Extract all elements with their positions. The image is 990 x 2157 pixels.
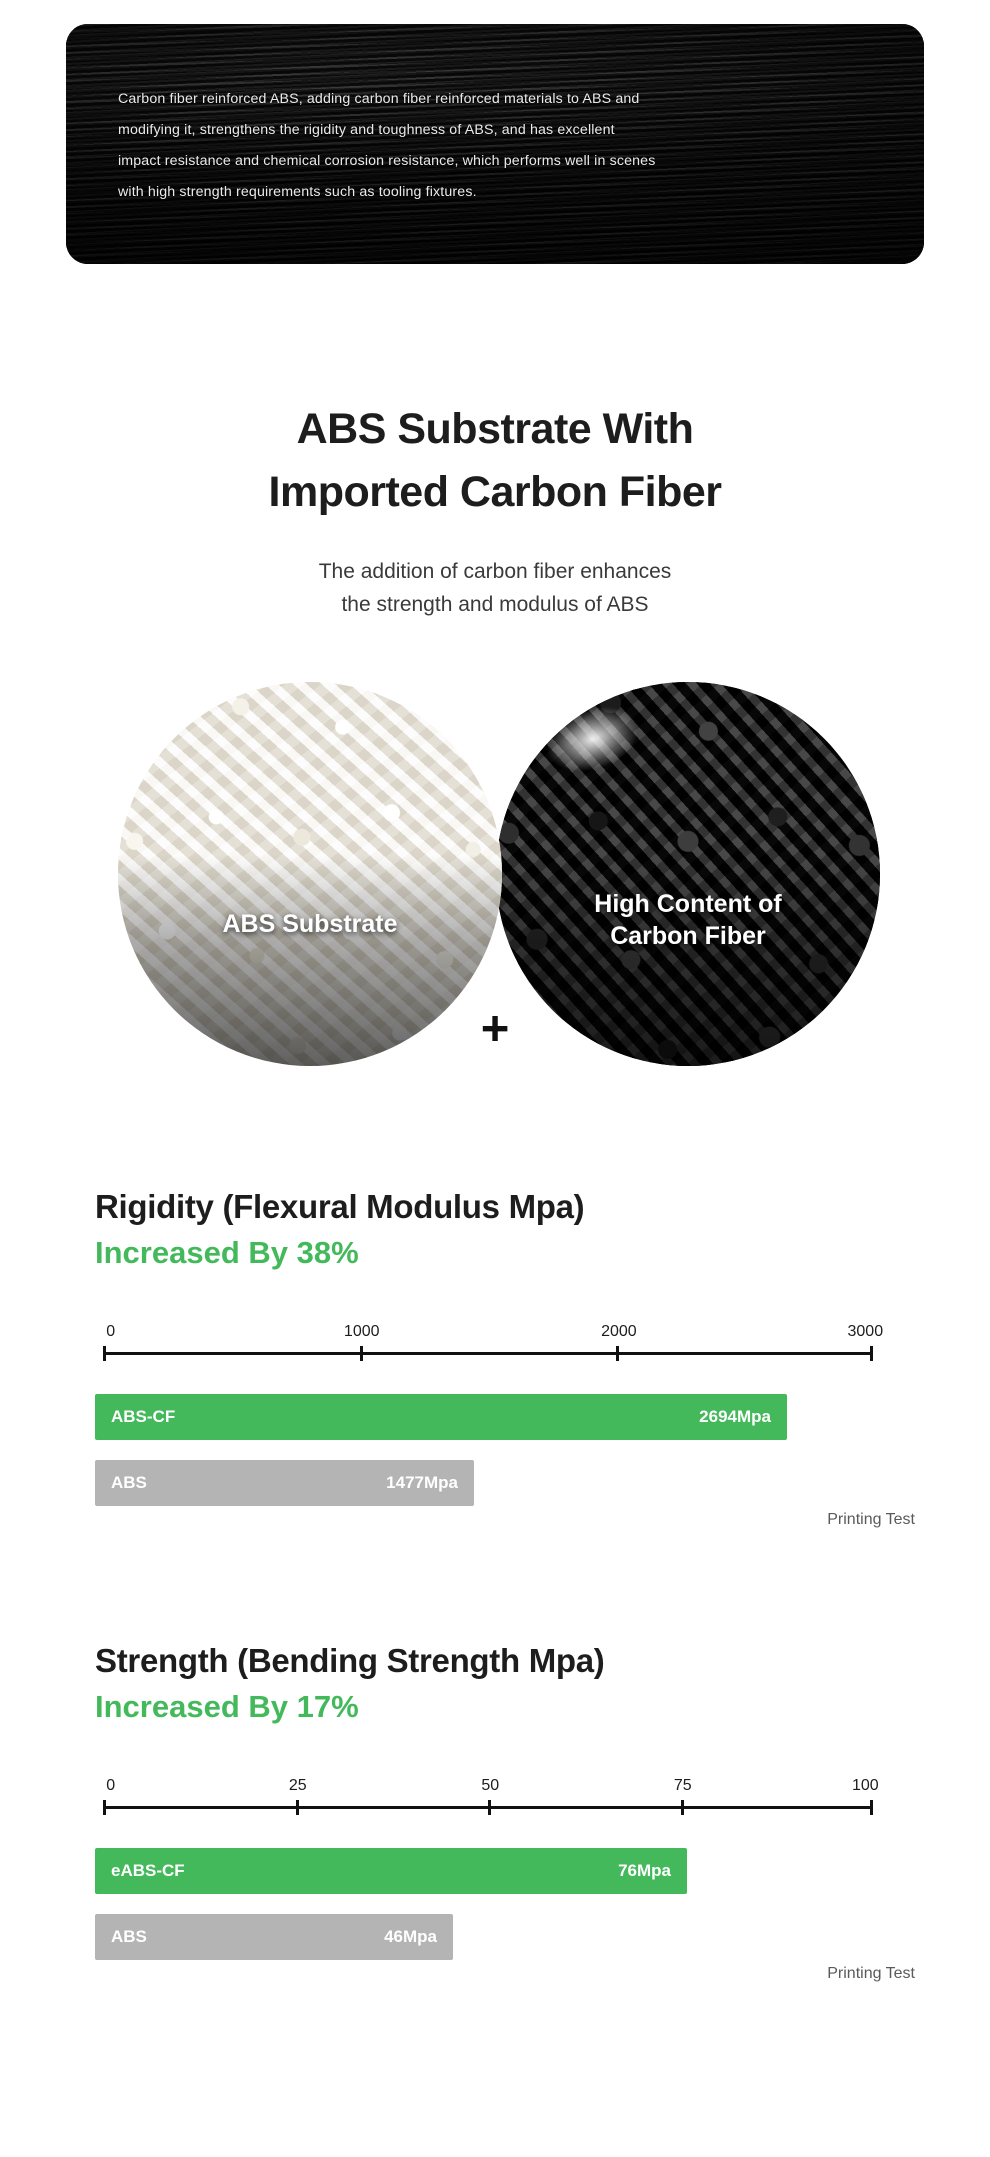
banner-line-3: impact resistance and chemical corrosion… xyxy=(118,146,874,177)
strength-bars: eABS-CF 76Mpa ABS 46Mpa xyxy=(95,1848,895,1960)
page-subtitle: The addition of carbon fiber enhances th… xyxy=(0,555,990,621)
axis-tick-label: 75 xyxy=(674,1777,692,1795)
axis-tick xyxy=(488,1800,491,1815)
rigidity-bars: ABS-CF 2694Mpa ABS 1477Mpa xyxy=(95,1394,895,1506)
banner-line-1: Carbon fiber reinforced ABS, adding carb… xyxy=(118,84,874,115)
rigidity-chart-caption: Printing Test xyxy=(827,1511,915,1529)
axis-tick-label: 25 xyxy=(289,1777,307,1795)
axis-line xyxy=(103,1352,873,1355)
carbon-fiber-circle-label: High Content of Carbon Fiber xyxy=(496,888,880,952)
carbon-fiber-label-line-1: High Content of xyxy=(496,888,880,920)
plus-icon: + xyxy=(0,1005,990,1054)
bar-category-label: ABS-CF xyxy=(111,1407,175,1427)
banner-description-text: Carbon fiber reinforced ABS, adding carb… xyxy=(118,84,874,208)
bar-category-label: ABS xyxy=(111,1927,147,1947)
bar-category-label: ABS xyxy=(111,1473,147,1493)
axis-tick-label: 50 xyxy=(481,1777,499,1795)
bar-value-label: 76Mpa xyxy=(618,1861,671,1881)
axis-tick-label: 0 xyxy=(106,1777,115,1795)
bar-value-label: 1477Mpa xyxy=(386,1473,458,1493)
page-title-line-2: Imported Carbon Fiber xyxy=(0,461,990,524)
strength-chart-axis: 0 25 50 75 100 xyxy=(103,1786,873,1820)
page-subtitle-line-1: The addition of carbon fiber enhances xyxy=(0,555,990,588)
bar-value-label: 46Mpa xyxy=(384,1927,437,1947)
axis-tick xyxy=(681,1800,684,1815)
product-description-banner: Carbon fiber reinforced ABS, adding carb… xyxy=(66,24,924,264)
rigidity-chart-subtitle: Increased By 38% xyxy=(95,1232,359,1274)
strength-chart-subtitle: Increased By 17% xyxy=(95,1686,359,1728)
bar-abs: ABS 1477Mpa xyxy=(95,1460,474,1506)
carbon-fiber-label-line-2: Carbon Fiber xyxy=(496,920,880,952)
axis-tick-label: 1000 xyxy=(344,1323,380,1341)
rigidity-chart-title: Rigidity (Flexural Modulus Mpa) xyxy=(95,1186,584,1228)
axis-tick-label: 2000 xyxy=(601,1323,637,1341)
axis-tick xyxy=(870,1800,873,1815)
axis-tick-label: 100 xyxy=(852,1777,879,1795)
banner-line-4: with high strength requirements such as … xyxy=(118,177,874,208)
bar-abs-cf: ABS-CF 2694Mpa xyxy=(95,1394,787,1440)
material-comparison-circles: High Content of Carbon Fiber ABS Substra… xyxy=(0,674,990,1086)
axis-tick xyxy=(870,1346,873,1361)
axis-tick xyxy=(296,1800,299,1815)
axis-tick-label: 0 xyxy=(106,1323,115,1341)
page-title-line-1: ABS Substrate With xyxy=(0,398,990,461)
axis-tick xyxy=(360,1346,363,1361)
abs-substrate-circle-label: ABS Substrate xyxy=(118,908,502,940)
axis-tick xyxy=(103,1800,106,1815)
rigidity-chart-axis: 0 1000 2000 3000 xyxy=(103,1332,873,1366)
axis-tick xyxy=(103,1346,106,1361)
page-title: ABS Substrate With Imported Carbon Fiber xyxy=(0,398,990,524)
strength-chart-caption: Printing Test xyxy=(827,1965,915,1983)
banner-line-2: modifying it, strengthens the rigidity a… xyxy=(118,115,874,146)
axis-tick xyxy=(616,1346,619,1361)
axis-tick-label: 3000 xyxy=(848,1323,884,1341)
bar-category-label: eABS-CF xyxy=(111,1861,185,1881)
bar-value-label: 2694Mpa xyxy=(699,1407,771,1427)
page-subtitle-line-2: the strength and modulus of ABS xyxy=(0,588,990,621)
bar-eabs-cf: eABS-CF 76Mpa xyxy=(95,1848,687,1894)
bar-abs: ABS 46Mpa xyxy=(95,1914,453,1960)
strength-chart-title: Strength (Bending Strength Mpa) xyxy=(95,1640,604,1682)
